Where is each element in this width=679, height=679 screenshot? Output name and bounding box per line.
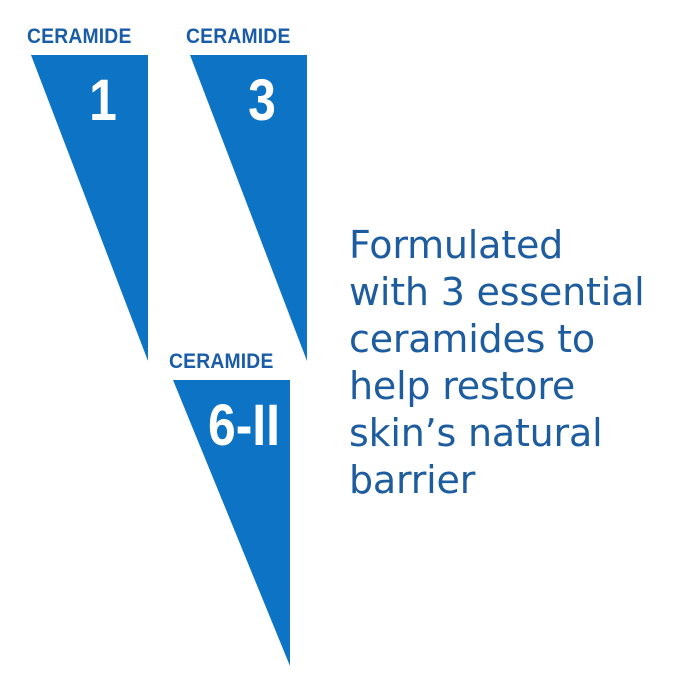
ceramide-label-6-ii: CERAMIDE [169,351,274,372]
ceramide-number-3: 3 [236,72,288,130]
ceramide-label-1: CERAMIDE [27,26,132,47]
ceramide-label-3: CERAMIDE [186,26,291,47]
ceramide-number-1: 1 [77,72,129,130]
ceramide-number-6-ii: 6-II [197,397,292,455]
body-copy-text: Formulated with 3 essential ceramides to… [349,222,649,504]
ceramide-infographic: CERAMIDE 1 CERAMIDE 3 CERAMIDE 6-II Form… [0,0,679,679]
